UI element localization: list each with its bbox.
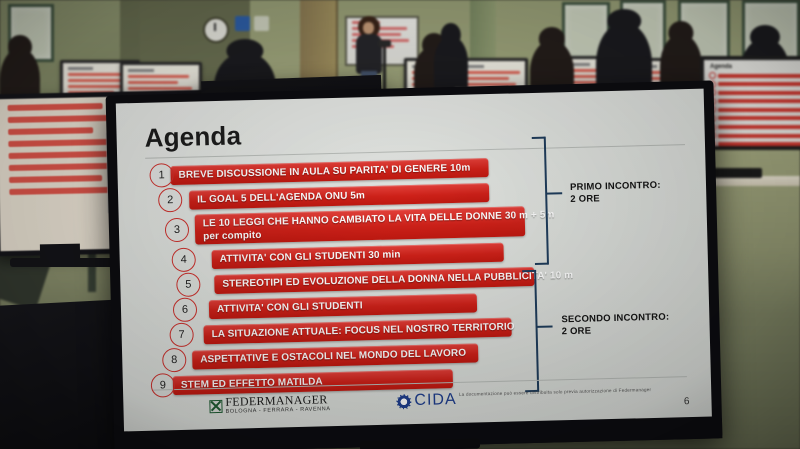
item-label: ATTIVITA' CON GLI STUDENTI bbox=[217, 300, 363, 315]
item-bar[interactable]: STEREOTIPI ED EVOLUZIONE DELLA DONNA NEL… bbox=[214, 266, 534, 293]
item-bar[interactable]: ASPETTATIVE E OSTACOLI NEL MONDO DEL LAV… bbox=[192, 343, 478, 369]
cida-logo: CIDA bbox=[396, 391, 457, 411]
item-number: 7 bbox=[169, 323, 194, 348]
item-label: LA SITUAZIONE ATTUALE: FOCUS NEL NOSTRO … bbox=[211, 321, 514, 340]
item-bar[interactable]: LE 10 LEGGI CHE HANNO CAMBIATO LA VITA D… bbox=[195, 206, 526, 244]
gear-icon bbox=[396, 394, 411, 409]
photo-scene: Agenda bbox=[0, 0, 800, 449]
agenda-slide: Agenda 1 BREVE DISCUSSIONE IN AULA SU PA… bbox=[116, 89, 712, 432]
monitor-base bbox=[10, 258, 120, 267]
item-number: 1 bbox=[149, 163, 174, 188]
wall-sign-icon bbox=[254, 16, 269, 31]
presentation-monitor: Agenda 1 BREVE DISCUSSIONE IN AULA SU PA… bbox=[106, 80, 723, 449]
monitor-stand-main bbox=[360, 439, 480, 449]
item-number: 8 bbox=[162, 348, 187, 373]
item-label: IL GOAL 5 DELL'AGENDA ONU 5m bbox=[197, 190, 365, 205]
item-bar[interactable]: ATTIVITA' CON GLI STUDENTI bbox=[209, 293, 477, 319]
item-label: LE 10 LEGGI CHE HANNO CAMBIATO LA VITA D… bbox=[203, 208, 555, 230]
item-bar[interactable]: IL GOAL 5 DELL'AGENDA ONU 5m bbox=[189, 183, 489, 210]
item-label: BREVE DISCUSSIONE IN AULA SU PARITA' DI … bbox=[178, 162, 470, 180]
group-label-first: PRIMO INCONTRO: 2 ORE bbox=[570, 180, 661, 206]
cida-name: CIDA bbox=[414, 391, 457, 410]
group-bracket-second bbox=[520, 270, 553, 393]
item-sublabel: per compito bbox=[203, 228, 262, 242]
federmanager-mark-icon bbox=[209, 399, 222, 412]
item-bar[interactable]: BREVE DISCUSSIONE IN AULA SU PARITA' DI … bbox=[170, 158, 488, 185]
item-label: ATTIVITA' CON GLI STUDENTI 30 min bbox=[220, 249, 401, 265]
wall-clock-icon bbox=[203, 17, 229, 43]
item-number: 3 bbox=[165, 218, 190, 243]
mini-agenda-title: Agenda bbox=[710, 64, 800, 70]
group-label-second: SECONDO INCONTRO: 2 ORE bbox=[561, 312, 669, 339]
federmanager-logo: FEDERMANAGER BOLOGNA - FERRARA - RAVENNA bbox=[209, 393, 331, 416]
item-bar[interactable]: LA SITUAZIONE ATTUALE: FOCUS NEL NOSTRO … bbox=[203, 317, 511, 344]
monitor-screen: Agenda 1 BREVE DISCUSSIONE IN AULA SU PA… bbox=[116, 89, 712, 432]
item-number: 5 bbox=[176, 272, 201, 297]
item-bar[interactable]: ATTIVITA' CON GLI STUDENTI 30 min bbox=[211, 242, 503, 268]
mirrored-agenda-monitor: Agenda bbox=[700, 56, 800, 150]
student-silhouette bbox=[434, 36, 468, 88]
federmanager-subtitle: BOLOGNA - FERRARA - RAVENNA bbox=[226, 405, 331, 416]
item-number: 4 bbox=[171, 248, 196, 273]
group-bracket-first bbox=[530, 136, 563, 265]
item-label: ASPETTATIVE E OSTACOLI NEL MONDO DEL LAV… bbox=[200, 347, 466, 365]
page-number: 6 bbox=[684, 396, 690, 407]
item-number: 6 bbox=[173, 298, 198, 323]
item-number: 2 bbox=[158, 188, 183, 213]
accessibility-sign-icon bbox=[235, 16, 250, 31]
